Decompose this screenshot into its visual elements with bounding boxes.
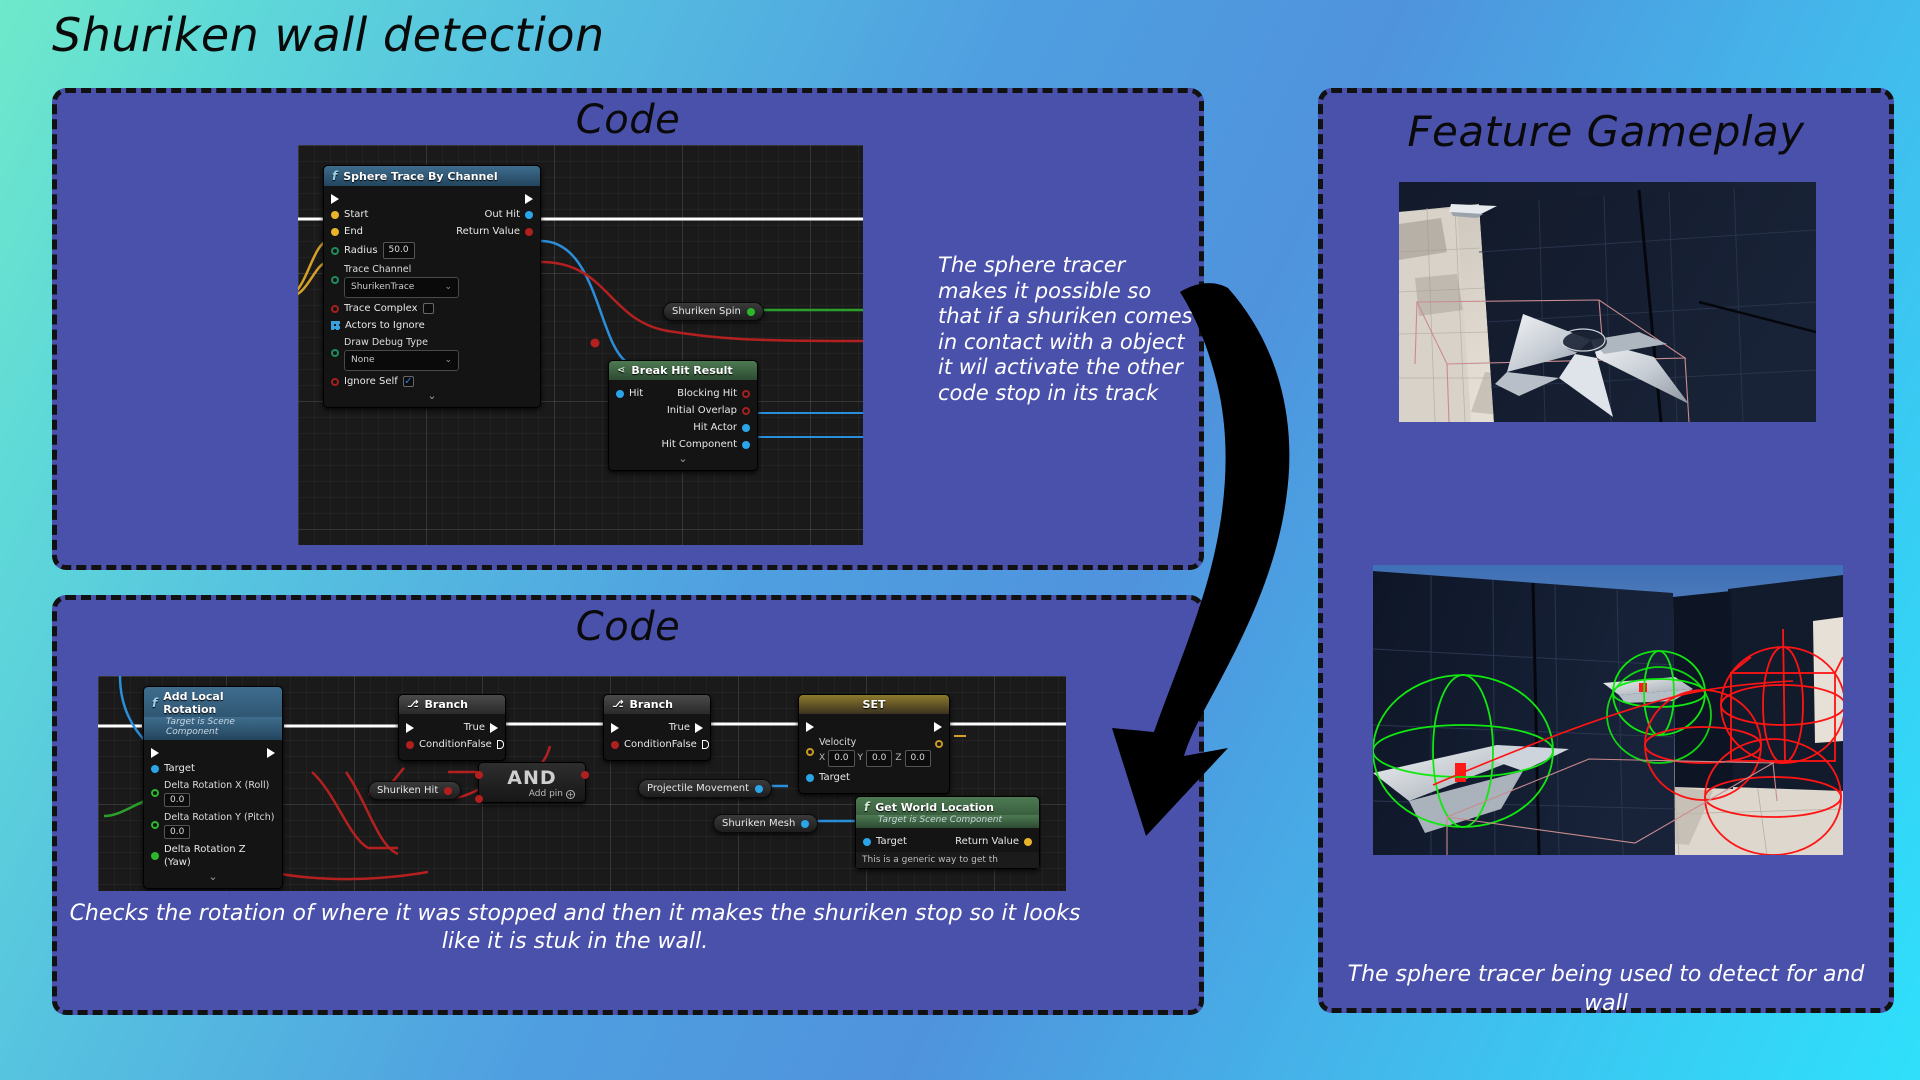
pin-delta-rotation-z[interactable]: Delta Rotation Z (Yaw) bbox=[144, 841, 282, 871]
ignore-self-pin[interactable] bbox=[331, 378, 339, 386]
pin-label-false: False bbox=[467, 738, 492, 751]
node-and[interactable]: AND Add pin + bbox=[478, 762, 586, 803]
node-header: f Add Local Rotation bbox=[144, 687, 282, 719]
velocity-z-input[interactable]: 0.0 bbox=[905, 750, 931, 767]
yaw-pin[interactable] bbox=[151, 852, 159, 860]
yaw-label: Delta Rotation Z (Yaw) bbox=[164, 843, 275, 869]
node-body: Target Delta Rotation X (Roll) 0.0 Delta… bbox=[144, 740, 282, 888]
panel-feature-gameplay: Feature Gameplay bbox=[1318, 88, 1894, 1013]
node-branch-2[interactable]: ⎇ Branch True Condition False bbox=[603, 694, 711, 761]
node-body: Velocity X 0.0 Y 0.0 Z 0.0 Target bbox=[799, 714, 949, 793]
trace-complex-checkbox[interactable] bbox=[423, 303, 434, 314]
node-title: SET bbox=[863, 698, 886, 711]
node-header: ⎇ Branch bbox=[399, 695, 505, 714]
false-exec-pin[interactable] bbox=[497, 740, 504, 749]
node-title: Sphere Trace By Channel bbox=[343, 170, 497, 183]
hit-actor-pin[interactable] bbox=[742, 424, 750, 432]
start-pin[interactable] bbox=[331, 211, 339, 219]
node-body: Target Return Value bbox=[856, 828, 1039, 852]
false-exec-pin[interactable] bbox=[702, 740, 709, 749]
pin-radius[interactable]: Radius 50.0 bbox=[324, 240, 540, 261]
node-tooltip: This is a generic way to get th bbox=[856, 852, 1039, 868]
pin-hit-blockinghit[interactable]: Hit Blocking Hit bbox=[609, 385, 757, 402]
shuriken-hit-out-pin[interactable] bbox=[444, 787, 452, 795]
panel-gameplay-title: Feature Gameplay bbox=[1323, 107, 1889, 156]
flow-arrow-icon bbox=[1110, 280, 1330, 840]
true-exec-pin[interactable] bbox=[695, 723, 703, 733]
pin-label-true: True bbox=[669, 721, 690, 734]
pin-actors-to-ignore[interactable]: Actors to Ignore bbox=[324, 317, 540, 334]
pin-label-target: Target bbox=[819, 771, 850, 784]
node-header: ⋖ Break Hit Result bbox=[609, 361, 757, 380]
node-expand-chevron-icon[interactable]: ⌄ bbox=[324, 390, 540, 400]
pin-label-false: False bbox=[672, 738, 697, 751]
pin-start-outhit[interactable]: Start Out Hit bbox=[324, 206, 540, 223]
pin-label-condition: Condition bbox=[624, 738, 672, 751]
node-body: True Condition False bbox=[399, 714, 505, 760]
pin-label-hit-component: Hit Component bbox=[662, 438, 737, 451]
node-expand-chevron-icon[interactable]: ⌄ bbox=[609, 453, 757, 463]
pin-label-trace-complex: Trace Complex bbox=[344, 302, 418, 315]
trace-complex-pin[interactable] bbox=[331, 305, 339, 313]
caption-sphere-trace: The sphere tracer being used to detect f… bbox=[1323, 961, 1889, 1018]
pin-hit-actor[interactable]: Hit Actor bbox=[609, 419, 757, 436]
add-pin-button[interactable]: Add pin + bbox=[489, 789, 575, 799]
blueprint-canvas-bottom[interactable]: f Add Local Rotation Target is Scene Com… bbox=[98, 676, 1066, 891]
condition-pin[interactable] bbox=[406, 741, 414, 749]
screenshot-shuriken-in-wall[interactable] bbox=[1399, 182, 1816, 422]
node-shuriken-mesh-variable[interactable]: Shuriken Mesh bbox=[713, 814, 818, 833]
projectile-movement-label: Projectile Movement bbox=[647, 783, 749, 794]
panel-code-top-title: Code bbox=[57, 97, 1199, 143]
trace-channel-dropdown[interactable]: ShurikenTrace ⌄ bbox=[344, 277, 459, 298]
roll-input[interactable]: 0.0 bbox=[164, 793, 190, 807]
velocity-y-input[interactable]: 0.0 bbox=[866, 750, 892, 767]
exec-out-pin[interactable] bbox=[267, 748, 275, 758]
exec-row[interactable] bbox=[799, 719, 949, 734]
and-in-pin-2[interactable] bbox=[475, 795, 483, 803]
pin-label-ignore-self: Ignore Self bbox=[344, 375, 398, 388]
pin-target-returnvalue[interactable]: Target Return Value bbox=[856, 833, 1039, 850]
and-out-pin[interactable] bbox=[581, 771, 589, 779]
velocity-out-pin[interactable] bbox=[935, 740, 943, 748]
roll-pin[interactable] bbox=[151, 789, 159, 797]
node-branch-1[interactable]: ⎇ Branch True Condition False bbox=[398, 694, 506, 761]
node-title: Break Hit Result bbox=[631, 364, 732, 377]
pin-label-end: End bbox=[344, 225, 363, 238]
pin-label-return-value: Return Value bbox=[456, 225, 520, 238]
blueprint-canvas-top[interactable]: f Sphere Trace By Channel Start Out Hit … bbox=[298, 145, 863, 545]
node-set-velocity[interactable]: SET Velocity X 0.0 Y 0.0 Z 0.0 bbox=[798, 694, 950, 794]
screenshot-sphere-trace-debug[interactable] bbox=[1373, 565, 1843, 855]
return-value-pin[interactable] bbox=[525, 228, 533, 236]
branch-icon: ⎇ bbox=[407, 699, 419, 710]
node-body: Hit Blocking Hit Initial Overlap Hit Act… bbox=[609, 380, 757, 470]
draw-debug-type-dropdown[interactable]: None ⌄ bbox=[344, 350, 459, 371]
shuriken-mesh-out-pin[interactable] bbox=[801, 820, 809, 828]
radius-pin[interactable] bbox=[331, 247, 339, 255]
shuriken-wall-render bbox=[1399, 182, 1816, 422]
target-pin[interactable] bbox=[151, 765, 159, 773]
chevron-down-icon: ⌄ bbox=[444, 281, 452, 294]
trace-channel-value: ShurikenTrace bbox=[351, 281, 414, 294]
pin-end-returnvalue[interactable]: End Return Value bbox=[324, 223, 540, 240]
caption-bottom-code: Checks the rotation of where it was stop… bbox=[60, 900, 1090, 956]
node-break-hit-result[interactable]: ⋖ Break Hit Result Hit Blocking Hit Init… bbox=[608, 360, 758, 471]
trace-channel-pin[interactable] bbox=[331, 276, 339, 284]
pitch-pin[interactable] bbox=[151, 821, 159, 829]
exec-in-pin[interactable] bbox=[331, 194, 339, 204]
pin-label-start: Start bbox=[344, 208, 368, 221]
hit-component-pin[interactable] bbox=[742, 441, 750, 449]
pin-exec-true[interactable]: True bbox=[399, 719, 505, 736]
pin-target[interactable]: Target bbox=[144, 760, 282, 777]
pin-label-blocking-hit: Blocking Hit bbox=[677, 387, 737, 400]
pin-target[interactable]: Target bbox=[799, 769, 949, 786]
hit-pin[interactable] bbox=[616, 390, 624, 398]
pin-label-target: Target bbox=[164, 762, 195, 775]
pin-draw-debug-type[interactable]: Draw Debug Type None ⌄ bbox=[324, 334, 540, 373]
node-header: SET bbox=[799, 695, 949, 714]
sphere-trace-debug-render bbox=[1373, 565, 1843, 855]
pin-condition-false[interactable]: Condition False bbox=[604, 736, 710, 753]
node-subtitle: Target is Scene Component bbox=[144, 717, 282, 740]
end-pin[interactable] bbox=[331, 228, 339, 236]
node-expand-chevron-icon[interactable]: ⌄ bbox=[144, 871, 282, 881]
pin-label-hit: Hit bbox=[629, 387, 643, 400]
pin-label-condition: Condition bbox=[419, 738, 467, 751]
condition-pin[interactable] bbox=[611, 741, 619, 749]
shuriken-spin-label: Shuriken Spin bbox=[672, 306, 741, 317]
target-pin[interactable] bbox=[806, 774, 814, 782]
pin-label-radius: Radius bbox=[344, 244, 378, 257]
pin-label-actors-to-ignore: Actors to Ignore bbox=[345, 319, 425, 332]
add-pin-label: Add pin bbox=[529, 789, 563, 799]
node-title: Branch bbox=[630, 698, 673, 711]
draw-debug-type-value: None bbox=[351, 354, 374, 367]
pin-trace-channel[interactable]: Trace Channel ShurikenTrace ⌄ bbox=[324, 261, 540, 300]
draw-debug-type-label: Draw Debug Type bbox=[344, 336, 459, 349]
function-icon: f bbox=[864, 800, 869, 814]
node-title: Add Local Rotation bbox=[163, 690, 274, 716]
node-header-wrap: f Get World Location Target is Scene Com… bbox=[856, 797, 1039, 828]
pure-function-icon: ⋖ bbox=[617, 365, 625, 376]
array-icon[interactable] bbox=[331, 321, 340, 330]
velocity-label: Velocity bbox=[819, 736, 931, 749]
branch-icon: ⎇ bbox=[612, 699, 624, 710]
plus-icon[interactable]: + bbox=[566, 790, 575, 799]
velocity-y-label: Y bbox=[858, 752, 864, 765]
exec-in-pin[interactable] bbox=[151, 748, 159, 758]
pin-condition-false[interactable]: Condition False bbox=[399, 736, 505, 753]
shuriken-hit-label: Shuriken Hit bbox=[377, 785, 438, 796]
out-hit-pin[interactable] bbox=[525, 211, 533, 219]
pin-velocity[interactable]: Velocity X 0.0 Y 0.0 Z 0.0 bbox=[799, 734, 949, 769]
projectile-movement-out-pin[interactable] bbox=[755, 785, 763, 793]
pin-initial-overlap[interactable]: Initial Overlap bbox=[609, 402, 757, 419]
pin-hit-component[interactable]: Hit Component bbox=[609, 436, 757, 453]
true-exec-pin[interactable] bbox=[490, 723, 498, 733]
function-icon: f bbox=[332, 169, 337, 183]
pin-trace-complex[interactable]: Trace Complex bbox=[324, 300, 540, 317]
pin-label-true: True bbox=[464, 721, 485, 734]
pin-ignore-self[interactable]: Ignore Self ✓ bbox=[324, 373, 540, 390]
pin-label-target: Target bbox=[876, 835, 907, 848]
exec-in-pin[interactable] bbox=[611, 723, 619, 733]
exec-row[interactable] bbox=[324, 191, 540, 206]
velocity-x-label: X bbox=[819, 752, 825, 765]
node-title: Branch bbox=[425, 698, 468, 711]
velocity-pin[interactable] bbox=[806, 748, 814, 756]
velocity-x-input[interactable]: 0.0 bbox=[828, 750, 854, 767]
exec-out-pin[interactable] bbox=[525, 194, 533, 204]
chevron-down-icon: ⌄ bbox=[444, 354, 452, 367]
node-header: f Sphere Trace By Channel bbox=[324, 166, 540, 186]
blocking-hit-pin[interactable] bbox=[742, 390, 750, 398]
node-projectile-movement-variable[interactable]: Projectile Movement bbox=[638, 779, 772, 798]
exec-out-pin[interactable] bbox=[934, 722, 942, 732]
roll-label: Delta Rotation X (Roll) bbox=[164, 779, 269, 792]
exec-row[interactable] bbox=[144, 745, 282, 760]
shuriken-mesh-label: Shuriken Mesh bbox=[722, 818, 795, 829]
initial-overlap-pin[interactable] bbox=[742, 407, 750, 415]
pin-exec-true[interactable]: True bbox=[604, 719, 710, 736]
velocity-z-label: Z bbox=[895, 752, 901, 765]
node-shuriken-hit-variable[interactable]: Shuriken Hit bbox=[368, 781, 461, 800]
draw-debug-type-pin[interactable] bbox=[331, 349, 339, 357]
function-icon: f bbox=[152, 696, 157, 710]
return-value-pin[interactable] bbox=[1024, 838, 1032, 846]
ignore-self-checkbox[interactable]: ✓ bbox=[403, 376, 414, 387]
trace-channel-label: Trace Channel bbox=[344, 263, 459, 276]
pitch-label: Delta Rotation Y (Pitch) bbox=[164, 811, 274, 824]
node-get-world-location[interactable]: f Get World Location Target is Scene Com… bbox=[855, 796, 1040, 869]
pin-label-hit-actor: Hit Actor bbox=[693, 421, 737, 434]
exec-in-pin[interactable] bbox=[406, 723, 414, 733]
panel-code-bottom-title: Code bbox=[57, 604, 1199, 650]
pin-delta-rotation-x[interactable]: Delta Rotation X (Roll) 0.0 bbox=[144, 777, 282, 809]
radius-input[interactable]: 50.0 bbox=[383, 242, 415, 259]
node-title: Get World Location bbox=[875, 801, 994, 814]
page-title: Shuriken wall detection bbox=[52, 8, 605, 62]
node-header: ⎇ Branch bbox=[604, 695, 710, 714]
pin-label-return-value: Return Value bbox=[955, 835, 1019, 848]
pitch-input[interactable]: 0.0 bbox=[164, 825, 190, 839]
target-pin[interactable] bbox=[863, 838, 871, 846]
node-shuriken-spin-variable[interactable]: Shuriken Spin bbox=[663, 302, 764, 321]
exec-in-pin[interactable] bbox=[806, 722, 814, 732]
pin-label-initial-overlap: Initial Overlap bbox=[667, 404, 737, 417]
node-body: Start Out Hit End Return Value Radius 50… bbox=[324, 186, 540, 407]
node-add-local-rotation[interactable]: f Add Local Rotation Target is Scene Com… bbox=[143, 686, 283, 889]
node-header: f Get World Location bbox=[856, 797, 1039, 817]
node-sphere-trace-by-channel[interactable]: f Sphere Trace By Channel Start Out Hit … bbox=[323, 165, 541, 408]
and-label: AND bbox=[489, 767, 575, 789]
node-header-wrap: f Add Local Rotation Target is Scene Com… bbox=[144, 687, 282, 740]
shuriken-spin-out-pin[interactable] bbox=[747, 308, 755, 316]
node-subtitle: Target is Scene Component bbox=[856, 815, 1039, 828]
and-in-pin-1[interactable] bbox=[475, 771, 483, 779]
pin-label-out-hit: Out Hit bbox=[484, 208, 520, 221]
pin-delta-rotation-y[interactable]: Delta Rotation Y (Pitch) 0.0 bbox=[144, 809, 282, 841]
node-body: True Condition False bbox=[604, 714, 710, 760]
